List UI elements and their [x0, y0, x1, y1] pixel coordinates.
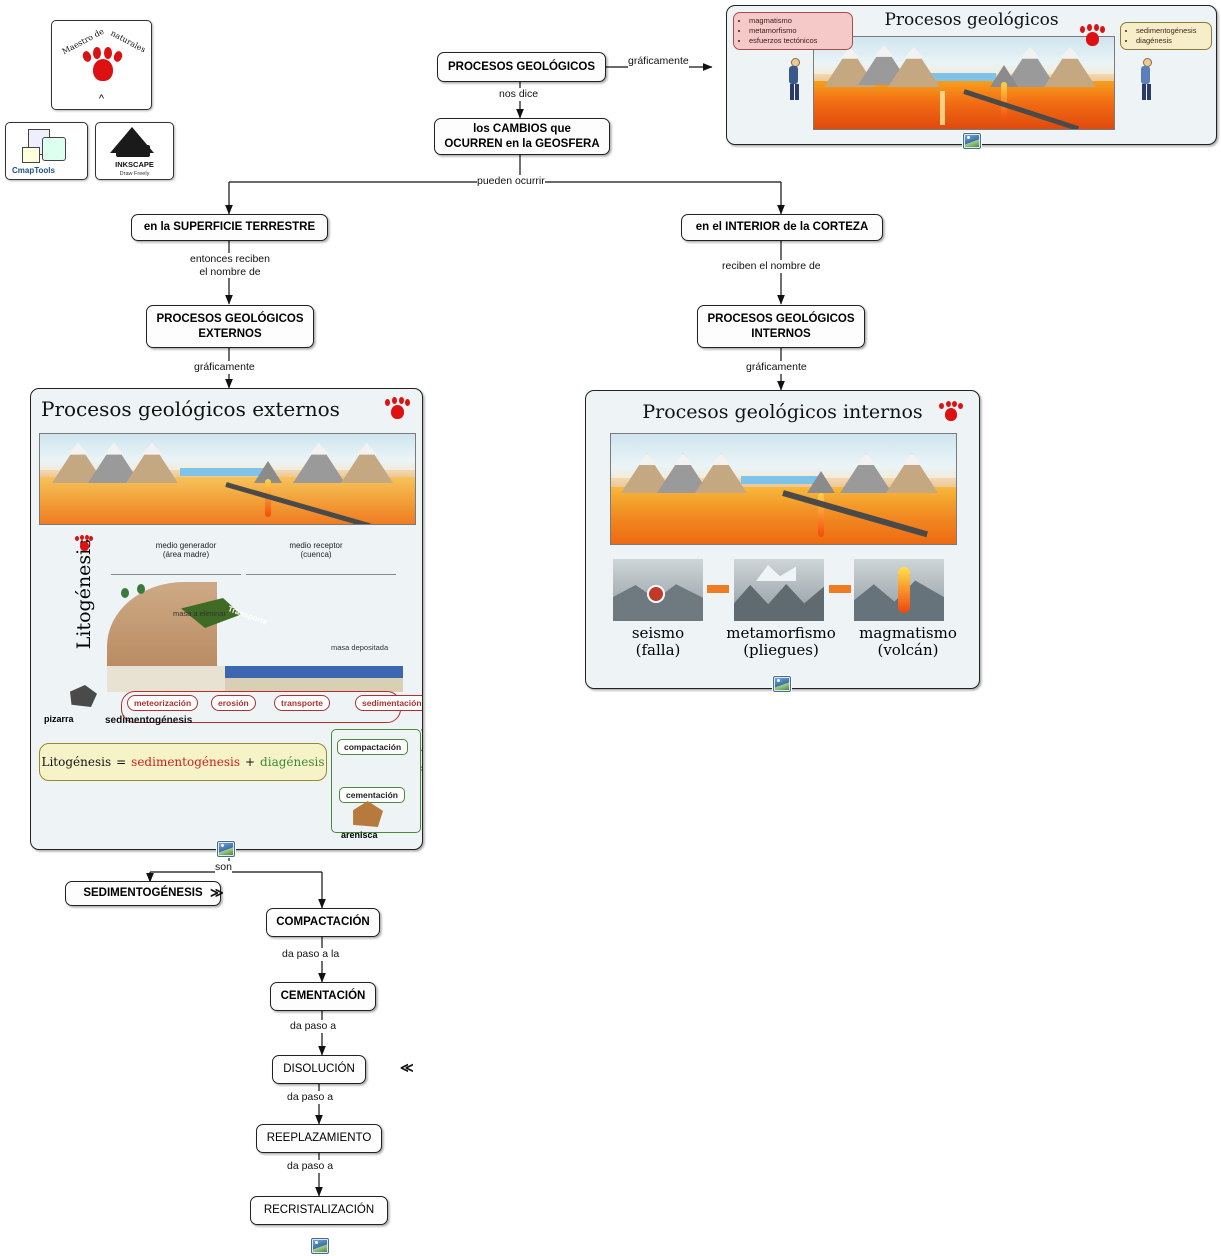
link-label-da-paso-a-3: da paso a	[287, 1160, 333, 1173]
chain-step-sedimentacion: sedimentación	[355, 695, 423, 711]
node-procesos-externos[interactable]: PROCESOS GEOLÓGICOS EXTERNOS	[146, 305, 314, 348]
image-resource-icon[interactable]	[963, 133, 981, 149]
thumb-magmatismo	[854, 559, 944, 621]
node-label: REEPLAZAMIENTO	[267, 1131, 372, 1145]
node-interior-corteza[interactable]: en el INTERIOR de la CORTEZA	[681, 214, 883, 241]
node-label: COMPACTACIÓN	[276, 915, 369, 929]
image-card-procesos-geologicos[interactable]: Procesos geológicos	[726, 5, 1217, 145]
link-label-da-paso-a-1: da paso a	[290, 1020, 336, 1033]
link-label-da-paso-a-2: da paso a	[287, 1091, 333, 1104]
cmaptools-label: CmapTools	[12, 166, 55, 175]
node-label: en la SUPERFICIE TERRESTRE	[144, 220, 315, 234]
erosion-profile	[107, 582, 403, 692]
chain-label-sedimentogenesis: sedimentogénesis	[105, 715, 192, 726]
chain-step-erosion: erosión	[211, 695, 256, 711]
link-label-son: son	[215, 861, 232, 874]
paw-icon	[1079, 24, 1105, 50]
link-label-da-paso-a-la: da paso a la	[282, 948, 339, 961]
vertical-title-litogenesis: Litogénesis	[73, 539, 95, 649]
image-card-procesos-externos[interactable]: Procesos geológicos externos Litogénesis…	[30, 388, 423, 850]
thumb-label-magmatismo: magmatismo (volcán)	[842, 625, 974, 660]
node-label: PROCESOS GEOLÓGICOS	[448, 60, 595, 74]
rock-label-pizarra: pizarra	[44, 714, 74, 724]
equation-part-plus: +	[245, 755, 255, 769]
node-compactacion[interactable]: COMPACTACIÓN	[266, 908, 380, 937]
thumb-label-name: seismo	[596, 625, 720, 642]
axis-label-medio-receptor: medio receptor (cuenca)	[261, 541, 371, 559]
thumb-metamorfismo	[734, 559, 824, 621]
diagenesis-label: diagénesis	[421, 723, 423, 775]
axis-arrow-right	[246, 574, 396, 575]
note-masa-a-eliminar: masa a eliminar	[173, 609, 226, 618]
node-sedimentogenesis[interactable]: SEDIMENTOGÉNESIS	[65, 881, 221, 906]
image-resource-icon[interactable]	[217, 841, 235, 857]
node-label: SEDIMENTOGÉNESIS	[83, 886, 202, 900]
paw-icon	[384, 397, 410, 423]
arrow-right-icon	[829, 585, 851, 593]
node-superficie-terrestre[interactable]: en la SUPERFICIE TERRESTRE	[131, 214, 328, 241]
image-card-procesos-internos[interactable]: Procesos geológicos internos seis	[585, 390, 980, 689]
node-procesos-internos[interactable]: PROCESOS GEOLÓGICOS INTERNOS	[697, 305, 865, 348]
equation-litogenesis: Litogénesis = sedimentogénesis + diagéne…	[39, 743, 327, 781]
thumb-label-sub: (volcán)	[842, 642, 974, 659]
link-label-nos-dice: nos dice	[499, 88, 538, 101]
image-resource-icon[interactable]	[311, 1238, 329, 1254]
link-label-pueden-ocurrir: pueden ocurrir	[477, 175, 545, 188]
note-masa-depositada: masa depositada	[331, 643, 388, 652]
thumb-label-name: metamorfismo	[711, 625, 851, 642]
axis-arrow-left	[111, 574, 241, 575]
node-cambios-geosfera[interactable]: los CAMBIOS que OCURREN en la GEOSFERA	[434, 118, 610, 155]
equation-part-sedimentogenesis: sedimentogénesis	[131, 755, 240, 769]
node-cementacion[interactable]: CEMENTACIÓN	[270, 982, 376, 1011]
node-procesos-geologicos[interactable]: PROCESOS GEOLÓGICOS	[437, 52, 606, 82]
chain-step-transporte: transporte	[274, 695, 330, 711]
node-label: DISOLUCIÓN	[283, 1062, 355, 1076]
diagenesis-step-cementacion: cementación	[339, 787, 405, 803]
paw-icon	[939, 401, 963, 425]
node-reeplazamiento[interactable]: REEPLAZAMIENTO	[256, 1124, 382, 1153]
callout-item: diagénesis	[1136, 36, 1206, 46]
node-label: RECRISTALIZACIÓN	[264, 1203, 374, 1217]
collapse-right-icon[interactable]: ≫	[210, 886, 224, 899]
image-title: Procesos geológicos externos	[31, 397, 422, 421]
axis-label-medio-generador: medio generador (área madre)	[131, 541, 241, 559]
arrow-left-icon	[707, 585, 729, 593]
node-disolucion[interactable]: DISOLUCIÓN	[272, 1055, 366, 1084]
cmaptools-logo: CmapTools	[5, 122, 88, 180]
callout-right: sedimentogénesis diagénesis	[1120, 22, 1212, 50]
rock-pizarra	[67, 685, 97, 707]
thumb-seismo	[613, 559, 703, 621]
node-label: PROCESOS GEOLÓGICOS INTERNOS	[708, 312, 855, 341]
rock-label-arenisca: arenisca	[341, 830, 378, 840]
thumb-label-metamorfismo: metamorfismo (pliegues)	[711, 625, 851, 660]
node-label: en el INTERIOR de la CORTEZA	[696, 220, 869, 234]
link-label-reciben-nombre: reciben el nombre de	[722, 260, 821, 273]
collapse-left-icon[interactable]: ≪	[400, 1061, 414, 1074]
node-recristalizacion[interactable]: RECRISTALIZACIÓN	[250, 1196, 388, 1225]
callout-item: esfuerzos tectónicos	[749, 36, 847, 46]
inkscape-sublabel: Draw Freely	[96, 171, 173, 177]
node-label: CEMENTACIÓN	[281, 989, 366, 1003]
link-label-graficamente-1: gráficamente	[628, 55, 689, 68]
equation-part-litogenesis: Litogénesis	[41, 755, 111, 769]
callout-item: sedimentogénesis	[1136, 26, 1206, 36]
equation-part-diagenesis: diagénesis	[260, 755, 324, 769]
callout-item: metamorfismo	[749, 26, 847, 36]
geological-cross-section	[39, 433, 416, 525]
maestro-de-naturales-logo: ^ Maestro de naturales	[51, 20, 152, 110]
geological-cross-section	[610, 433, 957, 545]
node-label: los CAMBIOS que OCURREN en la GEOSFERA	[444, 122, 599, 151]
link-label-graficamente-2: gráficamente	[194, 361, 255, 374]
image-title: Procesos geológicos internos	[586, 401, 979, 423]
thumb-label-name: magmatismo	[842, 625, 974, 642]
geological-cross-section	[813, 36, 1115, 130]
equation-part-equals: =	[116, 755, 126, 769]
inkscape-label: INKSCAPE	[96, 160, 173, 169]
diagenesis-step-compactacion: compactación	[337, 739, 408, 755]
node-label: PROCESOS GEOLÓGICOS EXTERNOS	[157, 312, 304, 341]
thumb-label-sub: (falla)	[596, 642, 720, 659]
link-label-entonces-reciben: entonces reciben el nombre de	[181, 253, 279, 278]
callout-left: magmatismo metamorfismo esfuerzos tectón…	[733, 12, 853, 50]
callout-item: magmatismo	[749, 16, 847, 26]
thumb-label-seismo: seismo (falla)	[596, 625, 720, 660]
thumb-label-sub: (pliegues)	[711, 642, 851, 659]
link-label-graficamente-3: gráficamente	[746, 361, 807, 374]
paw-icon-small	[75, 535, 93, 553]
chain-step-meteorizacion: meteorización	[127, 695, 198, 711]
inkscape-logo: INKSCAPE Draw Freely	[95, 122, 174, 180]
image-resource-icon[interactable]	[773, 676, 791, 692]
